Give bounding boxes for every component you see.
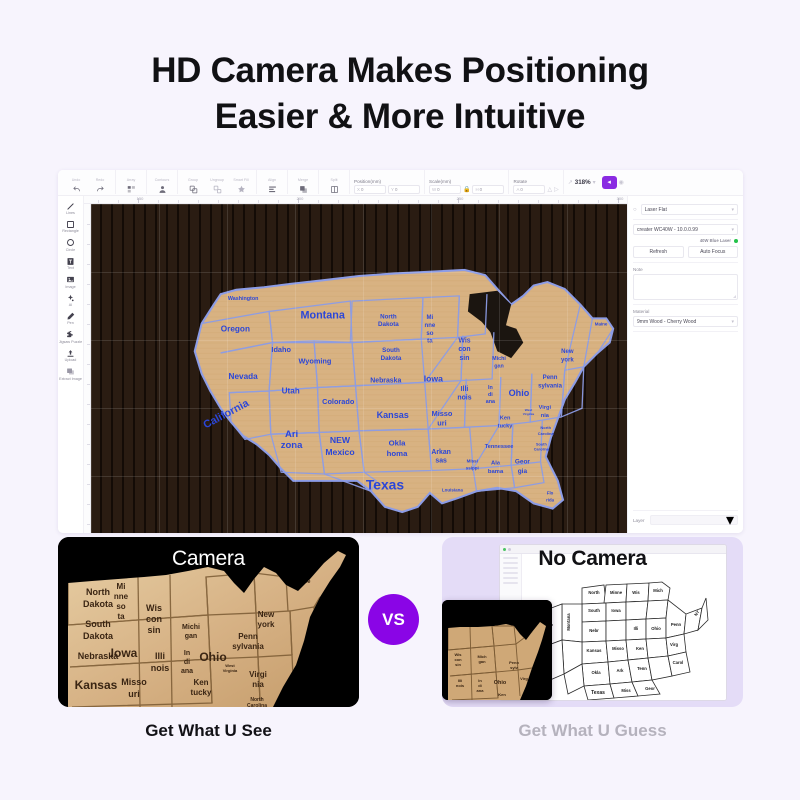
redo-button[interactable]: Redo <box>88 170 112 194</box>
state-label-westvirginia-1: West <box>525 408 532 412</box>
engraved-wood-photo: Wisconsin Michgan Illinois Indiana Ohio … <box>442 600 552 700</box>
tool-rectangle[interactable]: Rectangle <box>58 218 83 235</box>
state-label-kentucky-1: Ken <box>500 416 511 422</box>
svg-text:Dakota: Dakota <box>83 599 114 609</box>
state-label-kansas: Kansas <box>377 410 409 420</box>
redo-label: Redo <box>96 179 105 183</box>
state-label-oklahoma-2: homa <box>387 449 408 458</box>
svg-text:Ohio: Ohio <box>199 650 226 664</box>
laser-status: 40W Blue Laser <box>633 238 738 243</box>
no-camera-card-title: No Camera <box>442 547 743 571</box>
state-label-utah: Utah <box>282 387 300 396</box>
ruler-mark-150: 150 <box>137 196 144 201</box>
svg-text:Ohio: Ohio <box>651 626 661 631</box>
position-y-axis: Y <box>391 187 394 192</box>
svg-text:uri: uri <box>128 689 140 699</box>
right-settings-panel: ○ Laser Flat ▾ creater WC40W - 10.0.0.99… <box>627 196 743 533</box>
laser-mode-icon: ○ <box>633 207 637 213</box>
tool-rail: Lines Rectangle Circle Text <box>58 196 84 533</box>
note-section: Note <box>633 263 738 305</box>
auto-focus-button[interactable]: Auto Focus <box>688 246 739 258</box>
state-label-arkansas-1: Arkan <box>431 449 451 456</box>
ungroup-label: Ungroup <box>210 179 224 183</box>
state-label-northcarolina-2: Carolina <box>538 431 555 436</box>
state-label-washington: Washington <box>228 296 258 302</box>
tool-ai-label: AI <box>69 303 72 307</box>
toolbar-group-align: Align <box>257 170 288 194</box>
svg-text:sylvania: sylvania <box>232 642 264 651</box>
svg-text:Ark: Ark <box>617 668 625 673</box>
tool-image[interactable]: Image <box>58 274 83 291</box>
smart-fill-button[interactable]: Smart Fill <box>229 170 253 194</box>
svg-text:Kansas: Kansas <box>75 678 118 692</box>
image-icon <box>66 275 75 285</box>
state-label-northdakota-2: Dakota <box>378 321 399 328</box>
layer-section: Layer ▾ <box>633 510 738 529</box>
device-select[interactable]: creater WC40W - 10.0.0.99 ▾ <box>633 224 738 235</box>
state-label-minnesota-1: Mi <box>427 315 434 321</box>
panel-spacer <box>633 332 738 510</box>
chevron-down-icon: ▾ <box>726 510 734 530</box>
svg-text:Misso: Misso <box>612 646 624 651</box>
rotate-field-group: Rotate A 0 △ ▷ <box>509 170 563 194</box>
upload-icon <box>66 348 75 358</box>
state-label-florida-1: Flo <box>547 491 554 496</box>
svg-text:york: york <box>258 620 275 629</box>
state-label-minnesota-3: so <box>426 331 433 337</box>
laser-software-window: Undo Redo Array Contours <box>58 170 743 533</box>
state-label-colorado: Colorado <box>322 397 355 406</box>
scale-label: Scale(mm) <box>429 179 504 184</box>
auto-focus-label: Auto Focus <box>700 249 725 255</box>
group-button[interactable]: Group <box>181 170 205 194</box>
scale-h-input[interactable]: H 0 <box>472 185 504 194</box>
svg-text:Okla: Okla <box>591 670 601 675</box>
svg-text:Dakota: Dakota <box>83 631 114 641</box>
scale-w-input[interactable]: W 0 <box>429 185 461 194</box>
state-label-northdakota-1: North <box>380 313 397 320</box>
camera-toggle-icon[interactable]: ◉ <box>619 179 624 186</box>
state-label-indiana-3: ana <box>486 399 496 405</box>
layer-label: Layer <box>633 518 645 523</box>
svg-text:North: North <box>86 587 110 597</box>
svg-text:Penn: Penn <box>238 632 258 641</box>
material-section: Material 9mm Wood - Cherry Wood ▾ <box>633 305 738 332</box>
ruler-mark-300: 300 <box>617 196 624 201</box>
window-body: Lines Rectangle Circle Text <box>58 196 743 533</box>
tool-extract-image-label: Extract Image <box>59 377 82 381</box>
scale-h-axis: H <box>475 187 478 192</box>
ungroup-icon <box>213 184 222 194</box>
align-icon <box>268 184 277 194</box>
scale-h-value: 0 <box>480 187 482 192</box>
ruler-mark-200: 200 <box>297 196 304 201</box>
undo-button[interactable]: Undo <box>64 170 88 194</box>
svg-text:Mi: Mi <box>117 582 126 591</box>
circle-icon <box>66 238 75 248</box>
laser-status-label: 40W Blue Laser <box>700 238 731 243</box>
us-map-design[interactable]: Washington Oregon Idaho Montana Wyoming … <box>91 204 627 533</box>
state-label-southcarolina-1: South <box>536 442 547 446</box>
state-label-kentucky-2: tucky <box>498 423 514 429</box>
tool-pen[interactable]: Pen <box>58 310 83 327</box>
state-label-pennsylvania-2: sylvania <box>538 384 563 390</box>
camera-card-title: Camera <box>58 547 359 571</box>
state-label-montana: Montana <box>300 309 345 321</box>
position-x-axis: X <box>357 187 360 192</box>
flip-horizontal-icon[interactable]: △ <box>547 186 552 193</box>
mode-value: Laser Flat <box>645 207 667 213</box>
undo-icon <box>72 184 81 194</box>
svg-text:nois: nois <box>151 663 170 673</box>
chevron-down-icon: ▾ <box>731 227 734 233</box>
svg-text:sin: sin <box>455 662 461 667</box>
state-label-newyork-1: New <box>561 349 574 355</box>
pen-icon <box>66 311 75 321</box>
state-label-georgia-2: gia <box>518 468 528 475</box>
state-label-maine: Maine <box>595 321 608 326</box>
state-label-tennessee: Tennessee <box>485 444 514 450</box>
svg-text:Carol: Carol <box>673 660 684 665</box>
camera-caption: Get What U See <box>58 721 359 741</box>
position-x-value: 0 <box>361 187 363 192</box>
state-label-southdakota-1: South <box>382 347 400 354</box>
redo-icon <box>96 184 105 194</box>
state-label-illinois-2: nois <box>457 395 471 402</box>
svg-text:Illi: Illi <box>634 626 639 631</box>
zoom-group: ↗ 318% ▾ ◂ ◉ <box>564 170 628 194</box>
svg-text:Nebr: Nebr <box>589 628 599 633</box>
tool-upload[interactable]: Upload <box>58 347 83 364</box>
svg-text:di: di <box>184 659 190 666</box>
extract-image-icon <box>66 367 75 377</box>
svg-text:Virg: Virg <box>670 642 679 647</box>
group-icon <box>189 184 198 194</box>
no-camera-card: Oregon Montana North Minne South Iowa Wi… <box>442 537 743 707</box>
state-label-missouri-1: Misso <box>432 409 453 418</box>
array-icon <box>127 184 136 194</box>
svg-text:Virgi: Virgi <box>249 670 267 679</box>
contours-button[interactable]: Contours <box>150 170 174 194</box>
layer-select[interactable]: ▾ <box>650 515 739 525</box>
text-icon <box>66 256 75 266</box>
merge-label: Merge <box>298 179 308 183</box>
scale-w-axis: W <box>432 187 436 192</box>
svg-text:gan: gan <box>185 633 197 640</box>
mode-select[interactable]: Laser Flat ▾ <box>641 204 738 215</box>
split-label: Split <box>331 179 338 183</box>
state-label-illinois-1: Illi <box>461 386 469 393</box>
state-label-indiana-1: In <box>488 385 493 391</box>
tool-circle[interactable]: Circle <box>58 237 83 254</box>
flip-vertical-icon[interactable]: ▷ <box>554 186 559 193</box>
svg-text:Kansas: Kansas <box>587 648 603 653</box>
svg-text:Wis: Wis <box>632 590 640 595</box>
svg-text:Miss: Miss <box>621 688 631 693</box>
chevron-down-icon[interactable]: ▾ <box>593 179 596 186</box>
svg-text:ana: ana <box>477 688 485 693</box>
state-label-alabama-2: bama <box>488 469 504 475</box>
jigsaw-icon <box>66 330 75 340</box>
vertical-ruler[interactable] <box>84 204 91 533</box>
svg-text:Montana: Montana <box>566 613 571 631</box>
svg-text:Penn: Penn <box>671 622 682 627</box>
vs-badge: VS <box>368 594 419 645</box>
state-label-wyoming: Wyoming <box>298 356 331 365</box>
contours-label: Contours <box>155 179 170 183</box>
svg-text:Iowa: Iowa <box>111 646 138 660</box>
state-label-georgia-1: Geor <box>515 459 531 466</box>
state-label-missouri-2: uri <box>437 419 446 428</box>
mockup-canvas: Oregon Montana North Minne South Iowa Wi… <box>522 554 726 700</box>
mode-section: ○ Laser Flat ▾ <box>633 200 738 220</box>
contours-icon <box>158 184 167 194</box>
position-label: Position(mm) <box>354 179 420 184</box>
svg-text:sylv: sylv <box>510 665 519 670</box>
position-y-input[interactable]: Y 0 <box>388 185 420 194</box>
toolbar-group-array: Array <box>116 170 147 194</box>
merge-icon <box>299 184 308 194</box>
svg-text:Tenn: Tenn <box>637 666 647 671</box>
tool-extract-image[interactable]: Extract Image <box>58 366 83 383</box>
merge-button[interactable]: Merge <box>291 170 315 194</box>
state-label-newyork-2: york <box>561 358 574 364</box>
tool-lines-label: Lines <box>66 211 75 215</box>
tool-circle-label: Circle <box>66 248 75 252</box>
toolbar-group-arrange: Group Ungroup Smart Fill <box>178 170 257 194</box>
rotate-axis: A <box>516 187 519 192</box>
svg-text:ana: ana <box>181 668 193 675</box>
note-textarea[interactable] <box>633 274 738 300</box>
toolbar-group-history: Undo Redo <box>61 170 116 194</box>
group-label: Group <box>188 179 198 183</box>
state-label-virginia-2: nia <box>541 413 550 419</box>
svg-text:North: North <box>588 590 600 595</box>
svg-text:con: con <box>146 614 162 624</box>
ruler-mark-250: 250 <box>457 196 464 201</box>
engraving-stage[interactable]: Washington Oregon Idaho Montana Wyoming … <box>91 204 627 533</box>
rectangle-icon <box>66 219 75 229</box>
state-label-newmexico-1: NEW <box>330 435 351 445</box>
svg-text:Ken: Ken <box>193 678 208 687</box>
align-label: Align <box>268 179 276 183</box>
svg-text:Ken: Ken <box>636 646 644 651</box>
svg-text:Illi: Illi <box>155 651 165 661</box>
state-label-louisiana: Louisiana <box>442 487 463 492</box>
cursor-icon[interactable]: ◂ <box>602 176 617 189</box>
tool-text[interactable]: Text <box>58 255 83 272</box>
headline-line-1: HD Camera Makes Positioning <box>151 51 649 90</box>
tool-jigsaw-puzzle[interactable]: Jigsaw Puzzle <box>58 329 83 346</box>
state-label-arizona-2: zona <box>281 440 303 451</box>
page-title: HD Camera Makes Positioning Easier & Mor… <box>0 0 800 140</box>
state-label-oklahoma-1: Okla <box>389 438 407 447</box>
state-label-iowa: Iowa <box>424 373 443 383</box>
state-label-nevada: Nevada <box>229 372 259 381</box>
horizontal-ruler[interactable]: 150 200 250 300 <box>84 196 627 204</box>
svg-text:Texas: Texas <box>591 690 605 696</box>
rotate-value: 0 <box>520 187 522 192</box>
state-label-ohio: Ohio <box>509 388 530 398</box>
device-value: creater WC40W - 10.0.0.99 <box>637 227 698 233</box>
svg-text:South: South <box>85 619 111 629</box>
svg-text:Wis: Wis <box>146 603 162 613</box>
svg-text:New: New <box>258 610 275 619</box>
svg-text:Carolina: Carolina <box>247 703 267 707</box>
top-toolbar: Undo Redo Array Contours <box>58 170 743 196</box>
material-value: 9mm Wood - Cherry Wood <box>637 319 696 325</box>
headline-line-2: Easier & More Intuitive <box>0 94 800 140</box>
state-label-mississippi-2: ssippi <box>466 466 479 471</box>
state-label-texas: Texas <box>366 477 404 493</box>
material-label: Material <box>633 309 738 314</box>
lock-aspect-icon[interactable]: 🔒 <box>463 186 470 193</box>
note-label: Note <box>633 267 738 272</box>
svg-text:Misso: Misso <box>121 677 147 687</box>
svg-text:so: so <box>116 602 125 611</box>
caption-row: Get What U See Get What U Guess <box>58 721 743 741</box>
svg-text:Iowa: Iowa <box>611 608 621 613</box>
svg-text:Virginia: Virginia <box>223 668 238 673</box>
tool-text-label: Text <box>67 266 74 270</box>
svg-text:tucky: tucky <box>191 688 212 697</box>
scale-w-value: 0 <box>437 187 439 192</box>
svg-text:Minne: Minne <box>610 590 623 595</box>
svg-text:sin: sin <box>147 625 160 635</box>
material-select[interactable]: 9mm Wood - Cherry Wood ▾ <box>633 316 738 327</box>
array-label: Array <box>127 179 136 183</box>
wood-photo-inset: Wisconsin Michgan Illinois Indiana Ohio … <box>442 600 552 700</box>
split-icon <box>330 184 339 194</box>
state-label-minnesota-2: nne <box>425 323 436 329</box>
svg-text:ta: ta <box>117 612 125 621</box>
state-label-newmexico-2: Mexico <box>325 447 354 457</box>
camera-card: North Dakota South Dakota Nebraska Kansa… <box>58 537 359 707</box>
state-label-virginia-1: Virgi <box>539 405 552 411</box>
svg-text:Michi: Michi <box>182 624 200 631</box>
chevron-down-icon: ▾ <box>731 207 734 213</box>
svg-text:Ohio: Ohio <box>494 680 507 686</box>
state-label-idaho: Idaho <box>271 345 291 354</box>
smart-fill-label: Smart Fill <box>233 179 248 183</box>
line-art-us-map: Oregon Montana North Minne South Iowa Wi… <box>522 554 727 701</box>
refresh-label: Refresh <box>649 249 667 255</box>
tool-ai[interactable]: AI <box>58 292 83 309</box>
state-label-indiana-2: di <box>488 392 493 398</box>
state-label-northcarolina-1: North <box>540 425 551 430</box>
refresh-button[interactable]: Refresh <box>633 246 684 258</box>
svg-text:Ken: Ken <box>498 692 506 697</box>
svg-text:Geor: Geor <box>645 686 655 691</box>
array-button[interactable]: Array <box>119 170 143 194</box>
toolbar-group-merge: Merge <box>288 170 319 194</box>
split-button[interactable]: Split <box>322 170 346 194</box>
state-label-alabama-1: Ala <box>491 460 501 466</box>
state-label-nebraska: Nebraska <box>370 377 401 384</box>
tool-pen-label: Pen <box>67 321 74 325</box>
tool-rectangle-label: Rectangle <box>62 229 79 233</box>
toolbar-group-contours: Contours <box>147 170 178 194</box>
rotate-label: Rotate <box>513 179 558 184</box>
svg-text:Mich: Mich <box>653 588 663 593</box>
state-label-mississippi-1: Missi <box>467 459 478 464</box>
svg-text:nois: nois <box>456 683 465 688</box>
position-field-group: Position(mm) X 0 Y 0 <box>350 170 425 194</box>
state-label-southdakota-2: Dakota <box>381 355 402 362</box>
zoom-level[interactable]: 318% <box>575 179 591 186</box>
state-label-oregon: Oregon <box>221 324 250 333</box>
line-icon <box>66 201 75 211</box>
status-online-dot <box>734 239 738 243</box>
state-label-westvirginia-2: Virginia <box>523 412 535 416</box>
svg-text:South: South <box>588 608 600 613</box>
undo-label: Undo <box>72 179 81 183</box>
state-label-arizona-1: Ari <box>285 429 298 440</box>
state-label-wisconsin-1: Wis <box>458 338 470 345</box>
chevron-down-icon: ▾ <box>731 319 734 325</box>
position-x-input[interactable]: X 0 <box>354 185 386 194</box>
canvas-area: 150 200 250 300 <box>84 196 627 533</box>
tool-upload-label: Upload <box>65 358 77 362</box>
tool-jigsaw-label: Jigsaw Puzzle <box>59 340 82 344</box>
svg-text:nne: nne <box>114 592 129 601</box>
ungroup-button[interactable]: Ungroup <box>205 170 229 194</box>
svg-text:Virg: Virg <box>520 676 528 681</box>
smart-fill-icon <box>237 184 246 194</box>
state-label-michigan-1: Michi <box>492 356 506 362</box>
device-section: creater WC40W - 10.0.0.99 ▾ 40W Blue Las… <box>633 220 738 263</box>
ai-icon <box>66 293 75 303</box>
svg-text:gan: gan <box>478 659 486 664</box>
state-label-wisconsin-3: sin <box>459 355 469 362</box>
align-button[interactable]: Align <box>260 170 284 194</box>
state-label-wisconsin-2: con <box>458 346 470 353</box>
toolbar-group-split: Split <box>319 170 350 194</box>
svg-text:nia: nia <box>252 680 264 689</box>
svg-text:In: In <box>184 650 190 657</box>
tool-image-label: Image <box>65 285 75 289</box>
no-camera-caption: Get What U Guess <box>442 721 743 741</box>
state-label-michigan-2: gan <box>494 364 504 370</box>
state-label-arkansas-2: sas <box>435 458 447 465</box>
rotate-input[interactable]: A 0 <box>513 185 545 194</box>
scale-field-group: Scale(mm) W 0 🔒 H 0 <box>425 170 509 194</box>
state-label-florida-2: rida <box>546 498 555 503</box>
state-label-pennsylvania-1: Penn <box>543 375 558 381</box>
position-y-value: 0 <box>395 187 397 192</box>
zoom-fit-icon[interactable]: ↗ <box>568 179 573 186</box>
comparison-section: North Dakota South Dakota Nebraska Kansa… <box>58 537 743 741</box>
state-label-southcarolina-2: Carolina <box>534 448 550 452</box>
state-label-minnesota-4: ta <box>427 339 433 345</box>
tool-lines[interactable]: Lines <box>58 200 83 217</box>
